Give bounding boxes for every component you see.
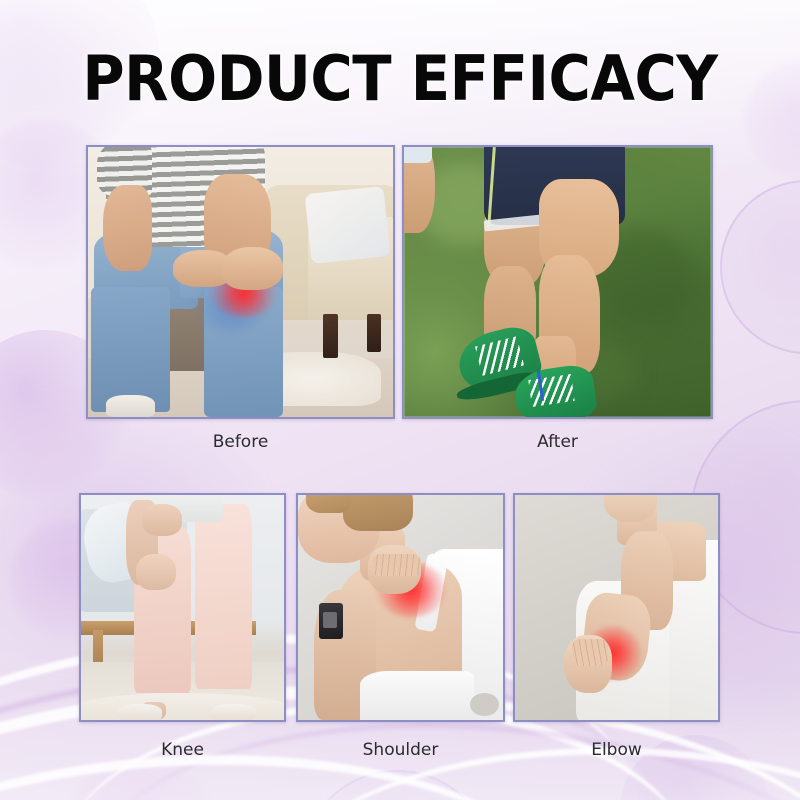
photo-before-image [88, 147, 393, 417]
photo-knee [79, 493, 286, 722]
photo-after-image [404, 147, 711, 417]
caption-elbow: Elbow [513, 742, 720, 759]
background-bubble [720, 180, 800, 354]
photo-shoulder [296, 493, 505, 722]
photo-after [402, 145, 713, 419]
background-bubble [300, 770, 494, 800]
photo-shoulder-image [298, 495, 503, 720]
photo-before [86, 145, 395, 419]
caption-shoulder: Shoulder [296, 742, 505, 759]
photo-knee-image [81, 495, 284, 720]
caption-after: After [402, 434, 713, 451]
caption-before: Before [86, 434, 395, 451]
photo-elbow [513, 493, 720, 722]
photo-elbow-image [515, 495, 718, 720]
page-title: PRODUCT EFFICACY [28, 48, 772, 110]
background-bubble [60, 760, 220, 800]
caption-knee: Knee [79, 742, 286, 759]
product-efficacy-poster: PRODUCT EFFICACY [0, 0, 800, 800]
